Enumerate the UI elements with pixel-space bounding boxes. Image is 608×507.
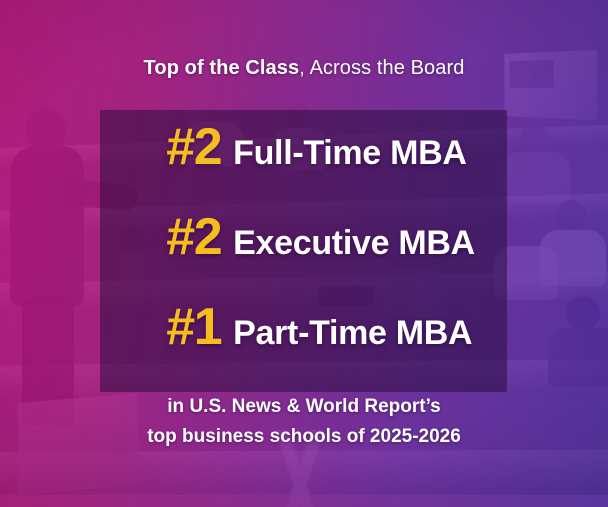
caption: in U.S. News & World Report’s top busine… [147, 392, 461, 452]
headline-rest: , Across the Board [299, 57, 464, 79]
stat-program: Executive MBA [233, 198, 475, 288]
stat-rank: #1 [133, 282, 221, 372]
stat-row: #1 Part-Time MBA [133, 282, 475, 372]
headline-strong: Top of the Class [144, 57, 300, 79]
caption-line-2: top business schools of 2025-2026 [147, 422, 461, 452]
content-layer: Top of the Class, Across the Board #2 Fu… [0, 0, 608, 507]
caption-line-1: in U.S. News & World Report’s [147, 392, 461, 422]
stats-list: #2 Full-Time MBA #2 Executive MBA #1 Par… [133, 102, 475, 372]
promo-graphic: Top of the Class, Across the Board #2 Fu… [0, 0, 608, 507]
stat-rank: #2 [133, 102, 221, 192]
stat-program: Part-Time MBA [233, 288, 472, 378]
stat-program: Full-Time MBA [233, 108, 466, 198]
headline: Top of the Class, Across the Board [144, 56, 465, 80]
stat-row: #2 Full-Time MBA [133, 102, 475, 192]
stat-rank: #2 [133, 192, 221, 282]
stat-row: #2 Executive MBA [133, 192, 475, 282]
